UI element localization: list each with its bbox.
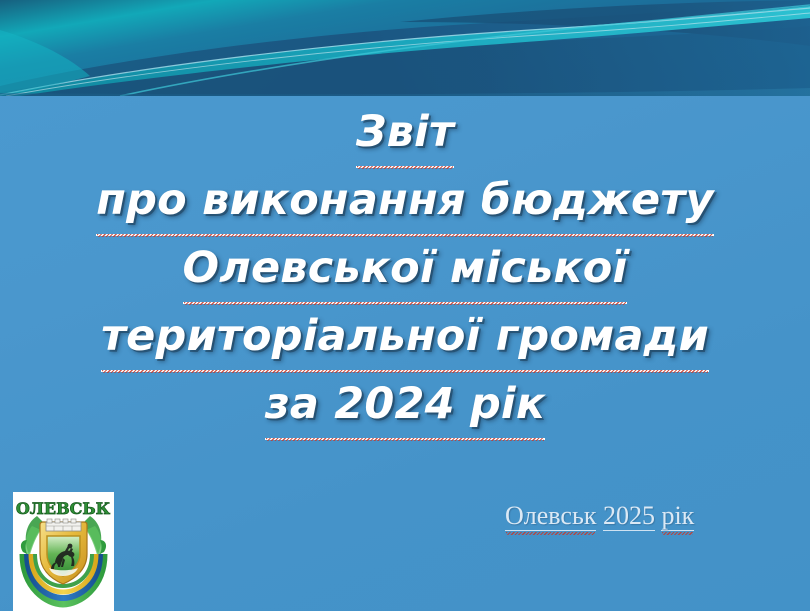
title-line-5: за 2024 рік [62, 372, 748, 440]
slide-footer: Олевськ 2025 рік [505, 501, 715, 531]
slide-title: Звіт про виконання бюджету Олевської міс… [62, 100, 748, 440]
title-line-4-text: територіальної громади [101, 304, 709, 369]
title-line-4: територіальної громади [62, 304, 748, 372]
title-line-2: про виконання бюджету [62, 168, 748, 236]
olevsk-coat-of-arms-icon: ОЛЕВСЬК [13, 492, 114, 611]
title-line-3: Олевської міської [62, 236, 748, 304]
title-line-1-text: Звіт [356, 100, 454, 165]
footer-year: 2025 [603, 501, 655, 531]
emblem-banner-text: ОЛЕВСЬК [16, 499, 111, 518]
title-slide: Звіт про виконання бюджету Олевської міс… [0, 0, 810, 611]
title-line-2-text: про виконання бюджету [96, 168, 713, 233]
title-line-3-text: Олевської міської [183, 236, 628, 301]
footer-year-label: рік [661, 501, 694, 531]
title-line-5-text: за 2024 рік [265, 372, 546, 437]
decorative-wave-band [0, 0, 810, 96]
footer-place: Олевськ [505, 501, 596, 531]
title-line-1: Звіт [62, 100, 748, 168]
footer-text: Олевськ 2025 рік [505, 501, 715, 531]
